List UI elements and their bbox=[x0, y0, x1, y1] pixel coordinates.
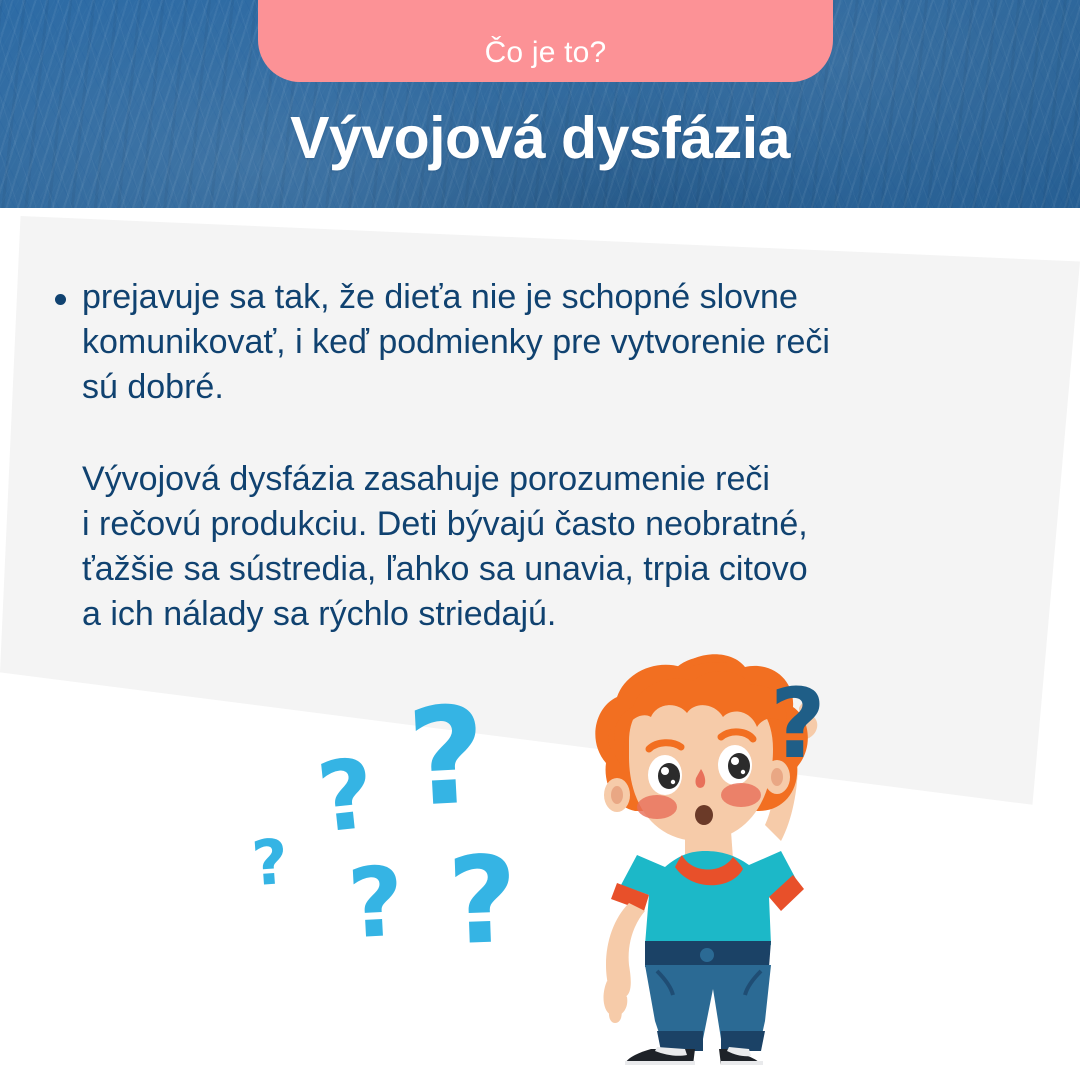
body-paragraph: Vývojová dysfázia zasahuje porozumenie r… bbox=[82, 457, 985, 638]
body-copy: prejavuje sa tak, že dieťa nie je schopn… bbox=[55, 275, 985, 638]
eyebrow-badge-label: Čo je to? bbox=[485, 38, 607, 82]
boy-jeans bbox=[645, 941, 771, 1051]
question-mark-icon: ? bbox=[446, 841, 520, 963]
bullet-dot-icon bbox=[55, 294, 66, 305]
boy-mouth bbox=[695, 805, 713, 825]
question-mark-icon: ? bbox=[250, 831, 290, 895]
infographic-canvas: Čo je to? Vývojová dysfázia prejavuje sa… bbox=[0, 0, 1080, 1080]
boy-eye-right bbox=[718, 745, 752, 785]
question-mark-icon: ? bbox=[313, 745, 378, 846]
eyebrow-badge: Čo je to? bbox=[258, 0, 833, 82]
boy-tshirt bbox=[611, 851, 804, 945]
list-item-text: prejavuje sa tak, že dieťa nie je schopn… bbox=[82, 275, 985, 411]
page-title: Vývojová dysfázia bbox=[0, 108, 1080, 170]
question-mark-dark-icon: ? bbox=[770, 676, 826, 772]
boy-shoes bbox=[625, 1047, 763, 1065]
boy-eye-left bbox=[648, 755, 682, 795]
question-mark-icon: ? bbox=[346, 854, 407, 953]
boy-blush-right bbox=[721, 783, 761, 807]
boy-blush-left bbox=[637, 795, 677, 819]
boy-left-arm bbox=[604, 903, 645, 1023]
question-mark-icon: ? bbox=[405, 688, 490, 826]
list-item: prejavuje sa tak, že dieťa nie je schopn… bbox=[55, 275, 985, 411]
